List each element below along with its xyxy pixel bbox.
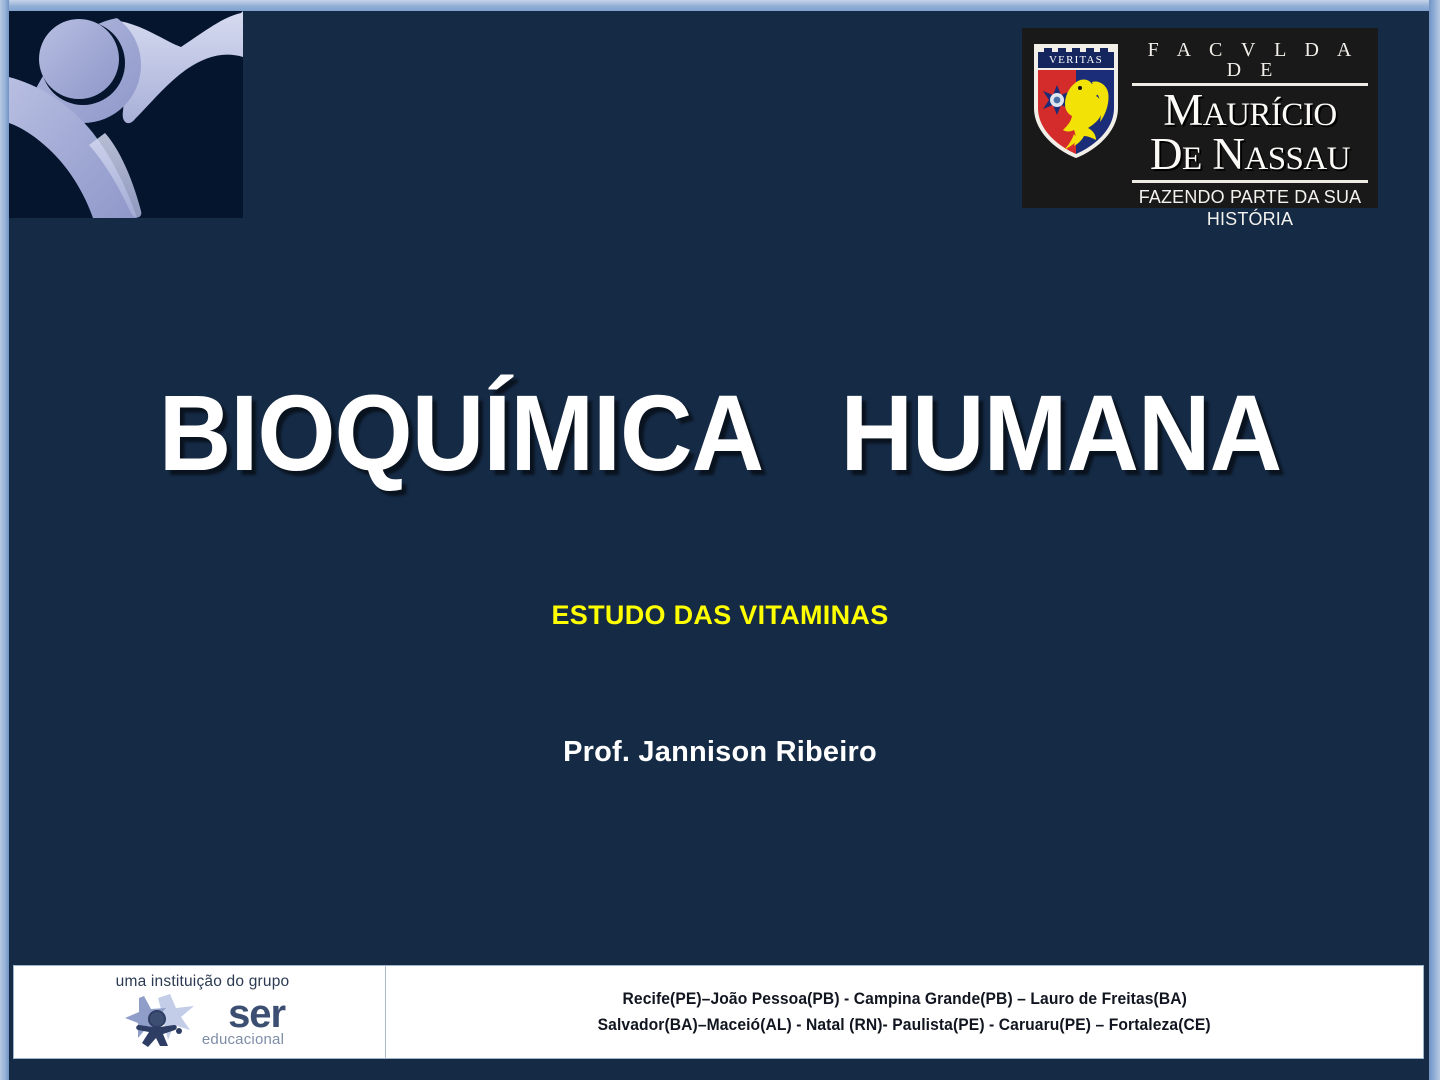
wordmark-de-nassau: DE NASSAU [1130,132,1370,176]
campus-list-line-1: Recife(PE)–João Pessoa(PB) - Campina Gra… [622,986,1186,1012]
wordmark-faculdade: F A C V L D A D E [1130,34,1370,80]
group-brand-sub: educacional [202,1032,284,1047]
group-brand: ser educacional [202,998,285,1047]
presentation-slide: VERITAS F A C V L D A [0,0,1440,1080]
star-person-graphic [9,11,243,218]
page-title: BIOQUÍMICA HUMANA [50,376,1389,489]
author-name: Prof. Jannison Ribeiro [0,736,1440,769]
frame-bottom-border [0,1058,1440,1080]
campus-list-line-2: Salvador(BA)–Maceió(AL) - Natal (RN)- Pa… [598,1012,1211,1038]
ser-educacional-star-icon [124,992,198,1053]
wordmark-tagline: FAZENDO PARTE DA SUA HISTÓRIA [1134,186,1367,230]
subtitle: ESTUDO DAS VITAMINAS [0,600,1440,631]
veritas-shield-icon: VERITAS [1030,34,1126,167]
university-wordmark: F A C V L D A D E MAURÍCIO DE NASSAU FAZ… [1126,34,1370,230]
group-logo-tagline: uma instituição do grupo [116,973,290,991]
university-logo: VERITAS F A C V L D A [1022,28,1378,208]
slide-footer: uma instituição do grupo ser [13,965,1424,1059]
group-brand-name: ser [228,998,285,1031]
frame-top-border [0,0,1440,11]
wordmark-mauricio: MAURÍCIO [1130,88,1370,132]
frame-right-border [1429,0,1440,1080]
group-logo-panel: uma instituição do grupo ser [14,966,386,1058]
svg-text:VERITAS: VERITAS [1049,54,1103,66]
group-logo-row: ser educacional [124,992,285,1053]
wordmark-rule-bottom [1132,180,1368,183]
campus-list-panel: Recife(PE)–João Pessoa(PB) - Campina Gra… [386,966,1423,1058]
frame-left-border [0,0,9,1080]
